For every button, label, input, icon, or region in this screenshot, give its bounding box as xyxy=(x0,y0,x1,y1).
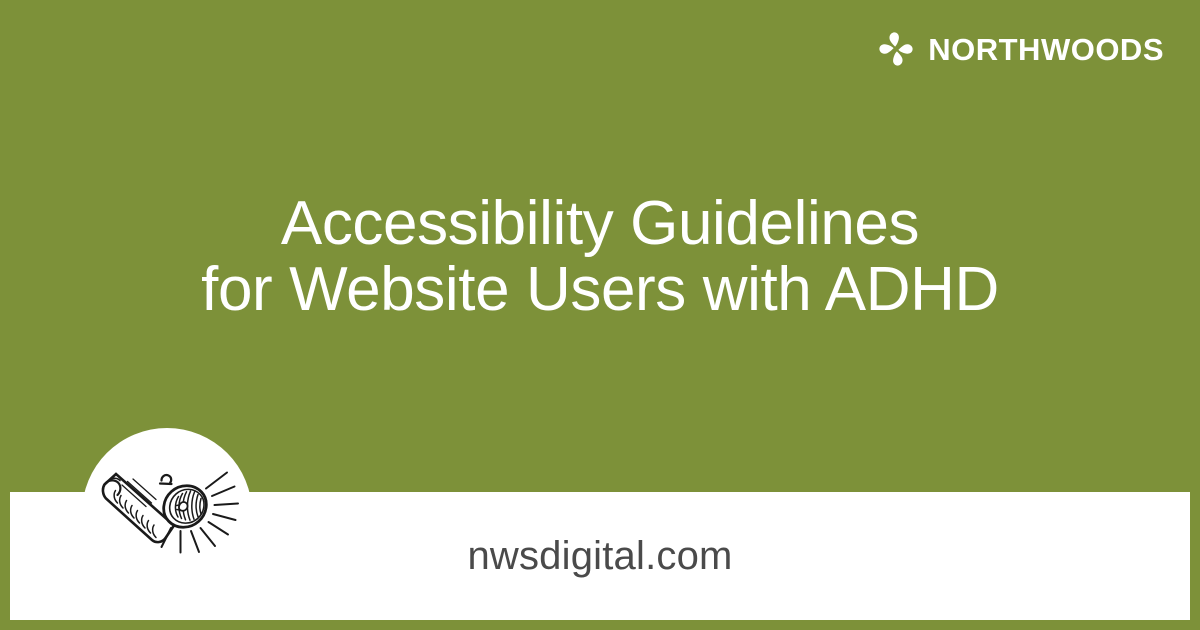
flashlight-icon xyxy=(82,428,252,598)
brand-wordmark: NORTHWOODS xyxy=(928,34,1164,65)
clover-four-petal-icon xyxy=(878,31,914,67)
headline-line-2: for Website Users with ADHD xyxy=(60,257,1140,323)
page-title: Accessibility Guidelines for Website Use… xyxy=(0,191,1200,322)
brand-lockup: NORTHWOODS xyxy=(878,31,1164,67)
flashlight-badge xyxy=(82,428,252,598)
site-url: nwsdigital.com xyxy=(467,536,732,576)
headline-line-1: Accessibility Guidelines xyxy=(60,191,1140,257)
